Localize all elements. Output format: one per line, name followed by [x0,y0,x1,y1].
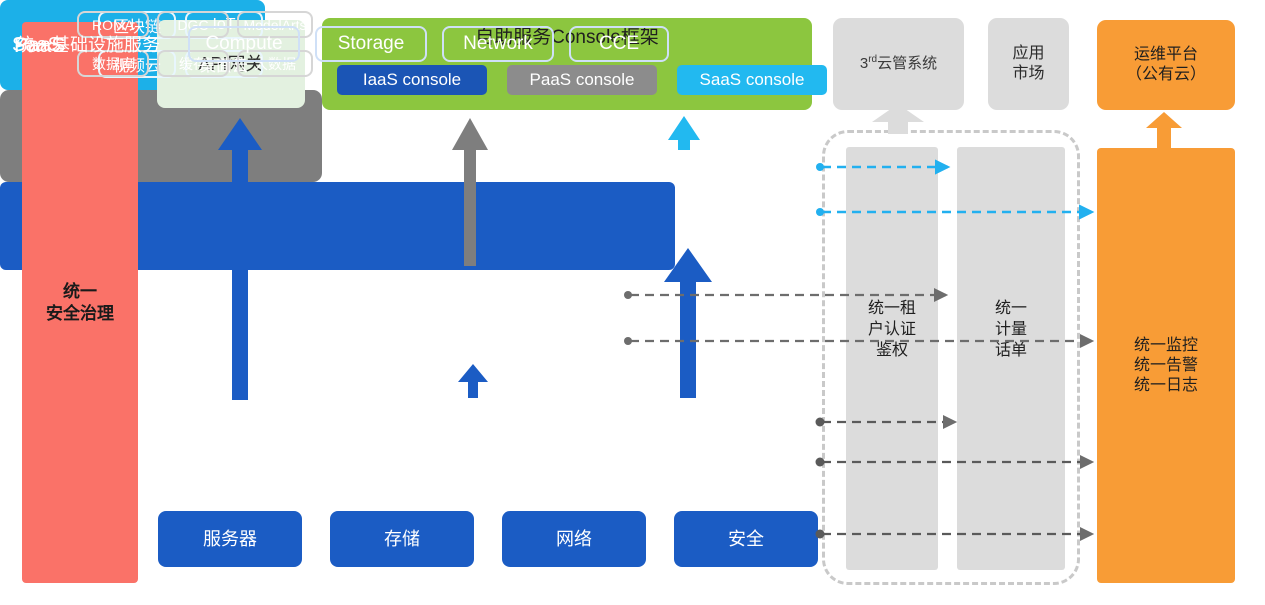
third-cloud-superscript: rd [868,54,877,65]
third-party-cloud-mgmt-box: 3rd云管系统 [833,18,964,110]
infra-item-network-label: Network [463,33,533,55]
infra-item-cce-label: CCE [599,33,639,55]
ops-platform-line-1: 运维平台 [1126,45,1206,65]
security-governance-line-1: 统一 [46,281,114,302]
arrow-infra-to-saas [664,248,712,398]
arrow-infra-to-paas [458,364,488,398]
security-governance-line-2: 安全治理 [46,303,114,324]
saas-console-label: SaaS console [700,69,805,90]
infra-item-network[interactable]: Network [442,26,554,62]
metering-line-1: 统一 [957,299,1065,320]
metering-line-2: 计量 [957,320,1065,341]
app-market-line-2: 市场 [1012,64,1044,84]
bottom-item-server[interactable]: 服务器 [158,511,302,567]
unified-monitoring-line-1: 统一监控 [1134,336,1198,356]
app-market-line-1: 应用 [1012,44,1044,64]
unified-monitoring-line-3: 统一日志 [1134,376,1198,396]
unified-tenant-auth-column: 统一租 户认证 鉴权 [846,147,938,570]
bottom-item-storage[interactable]: 存储 [330,511,474,567]
iaas-console-pill[interactable]: IaaS console [337,65,487,95]
bottom-item-storage-label: 存储 [384,528,420,551]
ops-platform-box: 运维平台 （公有云） [1097,20,1235,110]
unified-infrastructure-label: 统一基础设施服务 [16,0,160,88]
arrow-into-ops-platform [1146,112,1182,148]
infra-item-storage-label: Storage [338,33,405,55]
tenant-auth-line-2: 户认证 [846,320,938,341]
bottom-item-network-label: 网络 [556,528,592,551]
infra-item-compute[interactable]: Compute [188,26,300,62]
metering-line-3: 话单 [957,341,1065,362]
architecture-diagram: 统一 安全治理 API网关 自助服务Console框架 IaaS console… [0,0,1265,605]
infra-item-compute-label: Compute [205,33,282,55]
paas-console-label: PaaS console [530,69,635,90]
tenant-auth-line-3: 鉴权 [846,341,938,362]
bottom-item-security-label: 安全 [728,528,764,551]
third-cloud-prefix: 3 [860,55,868,72]
unified-metering-column: 统一 计量 话单 [957,147,1065,570]
saas-console-pill[interactable]: SaaS console [677,65,827,95]
paas-console-pill[interactable]: PaaS console [507,65,657,95]
infra-item-cce[interactable]: CCE [569,26,669,62]
unified-monitoring-line-2: 统一告警 [1134,356,1198,376]
bottom-item-server-label: 服务器 [203,528,257,551]
security-governance-panel: 统一 安全治理 [22,22,138,583]
infra-item-storage[interactable]: Storage [315,26,427,62]
app-market-box: 应用 市场 [988,18,1069,110]
third-cloud-suffix: 云管系统 [877,55,937,72]
tenant-auth-line-1: 统一租 [846,299,938,320]
arrow-saas-to-console [668,116,700,150]
bottom-item-network[interactable]: 网络 [502,511,646,567]
bottom-item-security[interactable]: 安全 [674,511,818,567]
unified-monitoring-panel: 统一监控 统一告警 统一日志 [1097,148,1235,583]
ops-platform-line-2: （公有云） [1126,65,1206,85]
iaas-console-label: IaaS console [363,69,461,90]
